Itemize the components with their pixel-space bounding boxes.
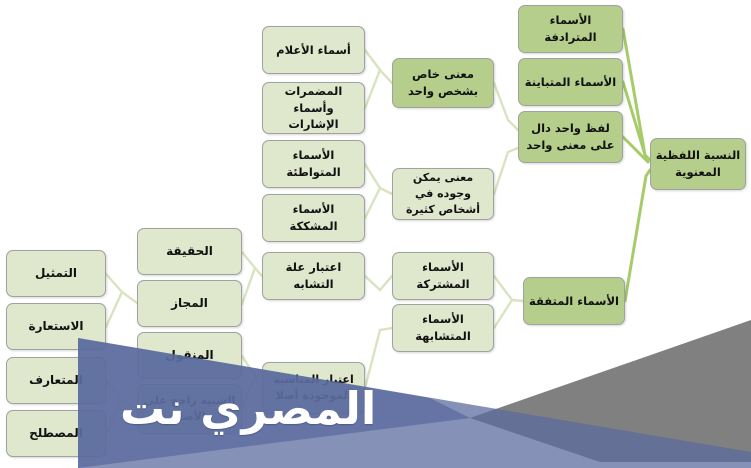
node-asma-muttafiqa[interactable]: الأسماء المتفقة (523, 277, 625, 325)
node-label: اعتبار علة التشابه (267, 259, 360, 292)
node-label: المصطلح (11, 425, 101, 442)
node-label: المنقول (142, 347, 237, 364)
node-label: الحقيقة (142, 243, 237, 260)
node-label: المتعارف (11, 372, 101, 389)
node-itibar-illat-tashabuh[interactable]: اعتبار علة التشابه (262, 252, 365, 300)
node-maana-kathir[interactable]: معنى يمكن وجوده في أشخاص كثيرة (392, 168, 494, 220)
node-label: الأسماء المتفقة (528, 293, 620, 310)
node-asma-mutawatia[interactable]: الأسماء المتواطئة (262, 140, 365, 188)
node-asma-mutaradifa[interactable]: الأسماء المترادفة (518, 5, 623, 53)
node-mutaaraf[interactable]: المتعارف (6, 357, 106, 404)
node-mustalah[interactable]: المصطلح (6, 410, 106, 457)
node-label: الأسماء المتشابهة (397, 311, 489, 344)
node-label: الأسماء المشتركة (397, 259, 489, 292)
node-majaz[interactable]: المجاز (137, 280, 242, 327)
node-istiara[interactable]: الاستعارة (6, 303, 106, 350)
node-asma-mushtaraka[interactable]: الأسماء المشتركة (392, 252, 494, 300)
node-label: أسماء الأعلام (267, 42, 360, 59)
node-asma-mushakkika[interactable]: الأسماء المشككة (262, 194, 365, 242)
node-label: الأسماء المترادفة (523, 12, 618, 45)
node-label: لفظ واحد دال على معنى واحد (523, 120, 618, 153)
node-label: المجاز (142, 295, 237, 312)
node-root-nisba-lafziyya[interactable]: النسبة اللفظية المعنوية (650, 138, 746, 190)
node-label: معنى يمكن وجوده في أشخاص كثيرة (397, 170, 489, 218)
node-lafz-wahid[interactable]: لفظ واحد دال على معنى واحد (518, 111, 623, 163)
node-label: النسبة اللفظية المعنوية (655, 147, 741, 180)
node-maana-khas[interactable]: معنى خاص بشخص واحد (392, 58, 494, 108)
node-label: الأسماء المتباينة (523, 74, 618, 91)
node-label: معنى خاص بشخص واحد (397, 66, 489, 99)
node-tamthil[interactable]: التمثيل (6, 250, 106, 297)
node-asma-mutashabiha[interactable]: الأسماء المتشابهة (392, 304, 494, 352)
node-asma-alaalam[interactable]: أسماء الأعلام (262, 26, 365, 74)
diagram-canvas: التمثيل الاستعارة المتعارف المصطلح الحقي… (0, 0, 751, 468)
node-mudmarat-isharat[interactable]: المضمرات وأسماء الإشارات (262, 82, 365, 134)
site-watermark: المصري نت (120, 382, 376, 435)
node-label: المضمرات وأسماء الإشارات (267, 83, 360, 133)
node-label: التمثيل (11, 265, 101, 282)
node-manqul[interactable]: المنقول (137, 332, 242, 379)
node-haqiqa[interactable]: الحقيقة (137, 228, 242, 275)
node-label: الاستعارة (11, 318, 101, 335)
node-label: الأسماء المشككة (267, 201, 360, 234)
node-label: الأسماء المتواطئة (267, 147, 360, 180)
node-asma-mutabayina[interactable]: الأسماء المتباينة (518, 58, 623, 106)
